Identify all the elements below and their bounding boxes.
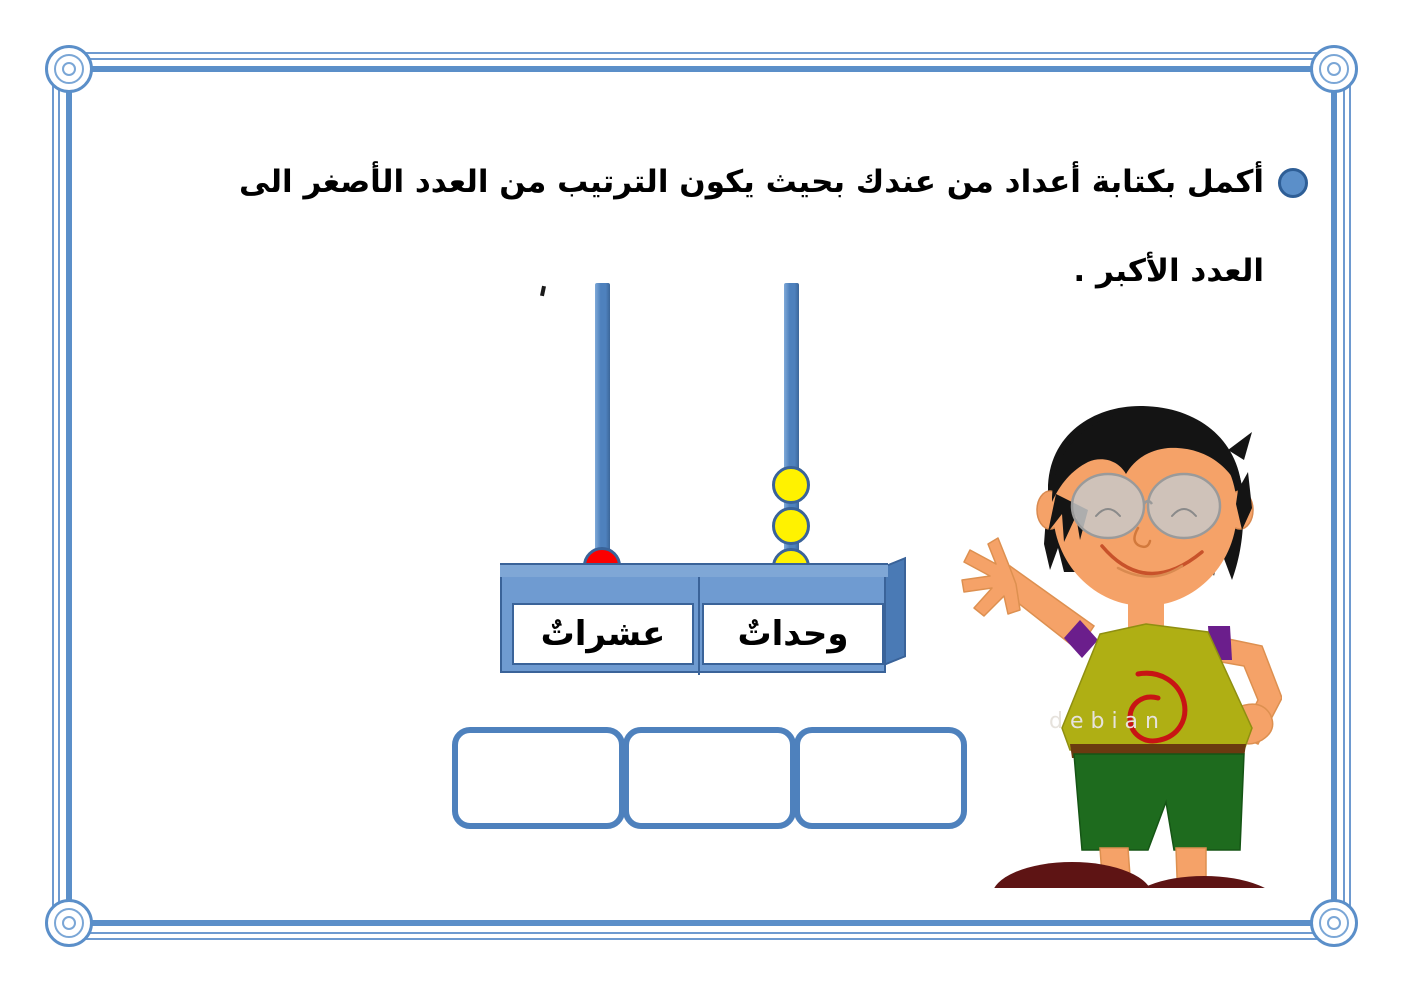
bullseye-ornament-icon-top-left <box>45 45 93 93</box>
frame-line-left <box>66 68 72 924</box>
abacus-base-right-face <box>886 557 906 665</box>
answer-box-2[interactable] <box>623 727 796 829</box>
abacus-label-text-units: وحداتٌ <box>737 617 848 651</box>
instruction-text-line-1: أكمل بكتابة أعداد من عندك بحيث يكون التر… <box>239 165 1264 201</box>
frame-line-right <box>1331 68 1337 924</box>
frame-hairline-top-outer <box>56 52 1347 54</box>
abacus-rod-tens <box>595 283 610 568</box>
abacus-label-box-units: وحداتٌ <box>702 603 884 665</box>
bullseye-ornament-icon-bottom-right <box>1310 899 1358 947</box>
shorts-icon <box>1074 754 1244 850</box>
instruction-line-1-row: أكمل بكتابة أعداد من عندك بحيث يكون التر… <box>120 165 1308 201</box>
stray-ink-mark <box>540 286 546 297</box>
cartoon-child-illustration: debian <box>952 398 1282 888</box>
shoes-icon <box>992 862 1282 888</box>
answer-box-3[interactable] <box>452 727 625 829</box>
frame-hairline-left-inner <box>58 56 60 936</box>
frame-hairline-right-outer <box>1349 56 1351 936</box>
frame-hairline-bottom-inner <box>56 932 1347 934</box>
abacus-base-front-face: عشراتٌ وحداتٌ <box>500 575 886 673</box>
abacus-bead-units-2[interactable] <box>772 507 810 545</box>
bullseye-ornament-icon-top-right <box>1310 45 1358 93</box>
number-answer-boxes <box>452 727 967 829</box>
place-value-abacus: عشراتٌ وحداتٌ <box>496 283 906 673</box>
frame-hairline-bottom-outer <box>56 938 1347 940</box>
abacus-bead-units-1[interactable] <box>772 466 810 504</box>
instruction-block: أكمل بكتابة أعداد من عندك بحيث يكون التر… <box>120 165 1308 289</box>
bullseye-ornament-icon-bottom-left <box>45 899 93 947</box>
abacus-base: عشراتٌ وحداتٌ <box>496 575 906 673</box>
shirt-wordmark: debian <box>1049 709 1166 734</box>
answer-box-1[interactable] <box>794 727 967 829</box>
frame-line-bottom <box>68 920 1335 926</box>
abacus-base-top-face <box>500 563 888 577</box>
frame-line-top <box>68 66 1335 72</box>
filled-circle-bullet-icon <box>1278 168 1308 198</box>
frame-hairline-left-outer <box>52 56 54 936</box>
abacus-column-divider <box>698 577 700 675</box>
abacus-label-text-tens: عشراتٌ <box>541 617 666 651</box>
abacus-label-box-tens: عشراتٌ <box>512 603 694 665</box>
frame-hairline-top-inner <box>56 58 1347 60</box>
frame-hairline-right-inner <box>1343 56 1345 936</box>
